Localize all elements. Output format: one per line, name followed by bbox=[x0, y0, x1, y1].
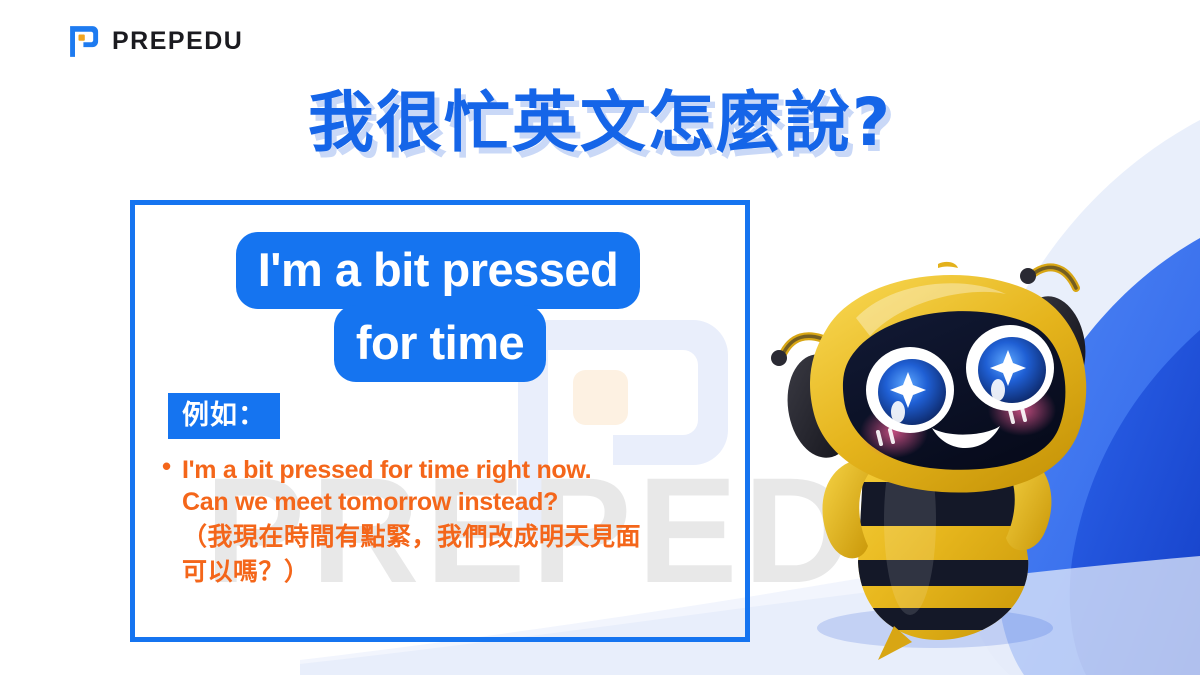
example-label-tag: 例如： bbox=[168, 393, 280, 439]
example-list-item: I'm a bit pressed for time right now. Ca… bbox=[162, 455, 722, 588]
example-block: I'm a bit pressed for time right now. Ca… bbox=[162, 455, 722, 588]
example-chinese-line-1: （我現在時間有點緊，我們改成明天見面 bbox=[182, 520, 722, 553]
example-english-line-1: I'm a bit pressed for time right now. bbox=[182, 455, 722, 487]
key-phrase-line-2: for time bbox=[334, 305, 546, 382]
slide-canvas: PREPEDU PREPEDU 我很忙英文怎麼說? I'm a bit pres… bbox=[0, 0, 1200, 675]
key-phrase-line-1: I'm a bit pressed bbox=[236, 232, 641, 309]
bee-robot-mascot-icon bbox=[760, 160, 1100, 660]
prepedu-logo-mark-icon bbox=[68, 24, 103, 59]
page-title: 我很忙英文怎麼說? bbox=[0, 86, 1200, 160]
example-chinese-line-2: 可以嗎？） bbox=[182, 555, 722, 588]
brand-logo[interactable]: PREPEDU bbox=[68, 24, 243, 59]
key-phrase: I'm a bit pressed for time bbox=[130, 232, 750, 382]
brand-name: PREPEDU bbox=[112, 29, 243, 54]
example-english-line-2: Can we meet tomorrow instead? bbox=[182, 487, 722, 519]
